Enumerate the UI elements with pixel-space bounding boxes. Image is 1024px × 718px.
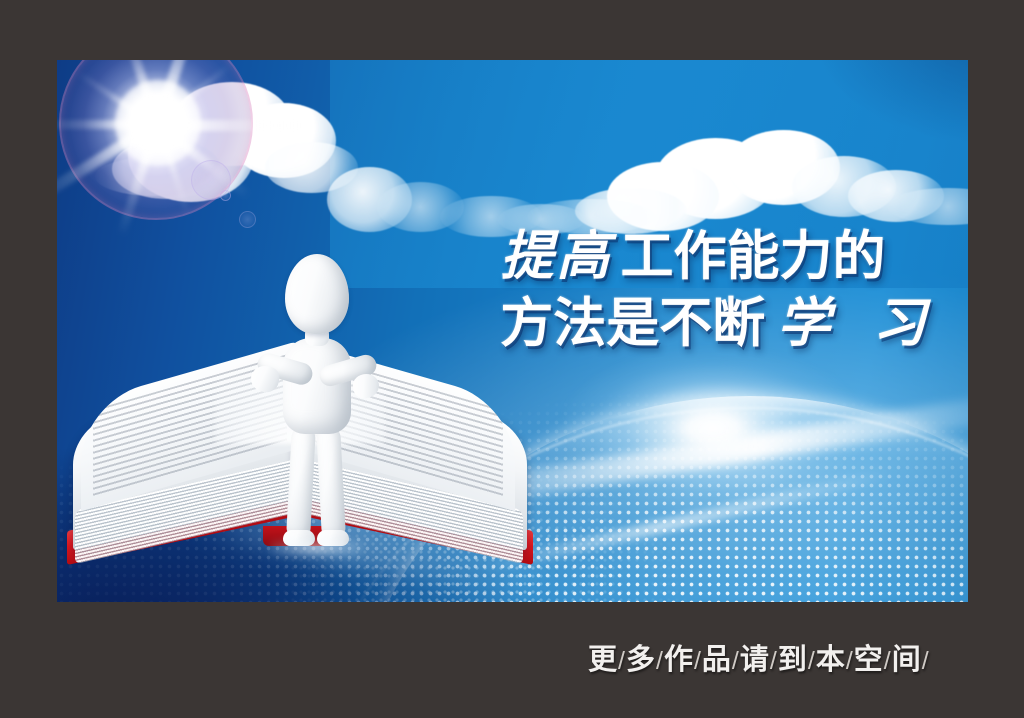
poster-headline: 提高工作能力的 方法是不断学 习	[427, 225, 957, 358]
mannequin-head	[285, 254, 349, 334]
caption-char: 到	[778, 644, 807, 676]
caption-separator: /	[921, 647, 930, 675]
caption-separator: /	[731, 647, 740, 675]
sun-core	[115, 80, 201, 166]
caption-char: 本	[816, 644, 845, 676]
caption-separator: /	[617, 647, 626, 675]
caption-char: 请	[740, 644, 769, 676]
mannequin-torso	[283, 338, 351, 434]
caption-separator: /	[807, 647, 816, 675]
bottom-caption: 更/多/作/品/请/到/本/空/间/	[588, 636, 930, 678]
mannequin-leg-left	[286, 425, 316, 538]
caption-char: 品	[702, 644, 731, 676]
caption-separator: /	[883, 647, 892, 675]
poster-image: 提高工作能力的 方法是不断学 习	[57, 60, 968, 602]
caption-separator: /	[655, 647, 664, 675]
headline-line-1: 提高工作能力的	[427, 225, 957, 289]
headline-brush-text-2: 学 习	[765, 292, 937, 354]
caption-char: 间	[892, 644, 921, 676]
headline-brush-text-1: 提高	[501, 225, 621, 287]
mannequin-ground-glow	[271, 540, 363, 556]
caption-char: 作	[664, 644, 693, 676]
caption-char: 空	[854, 644, 883, 676]
caption-char: 多	[626, 644, 655, 676]
caption-separator: /	[845, 647, 854, 675]
caption-char: 更	[588, 644, 617, 676]
caption-separator: /	[769, 647, 778, 675]
mannequin-leg-right	[316, 425, 346, 538]
white-3d-mannequin	[261, 254, 371, 554]
sun-flare-icon	[57, 60, 281, 224]
headline-block-text-2: 方法是不断	[500, 294, 765, 353]
lens-flare-circle	[220, 190, 231, 201]
caption-separator: /	[693, 647, 702, 675]
lens-flare-circle	[239, 211, 256, 228]
headline-block-text-1: 工作能力的	[621, 227, 886, 286]
headline-line-2: 方法是不断学 习	[427, 289, 957, 359]
